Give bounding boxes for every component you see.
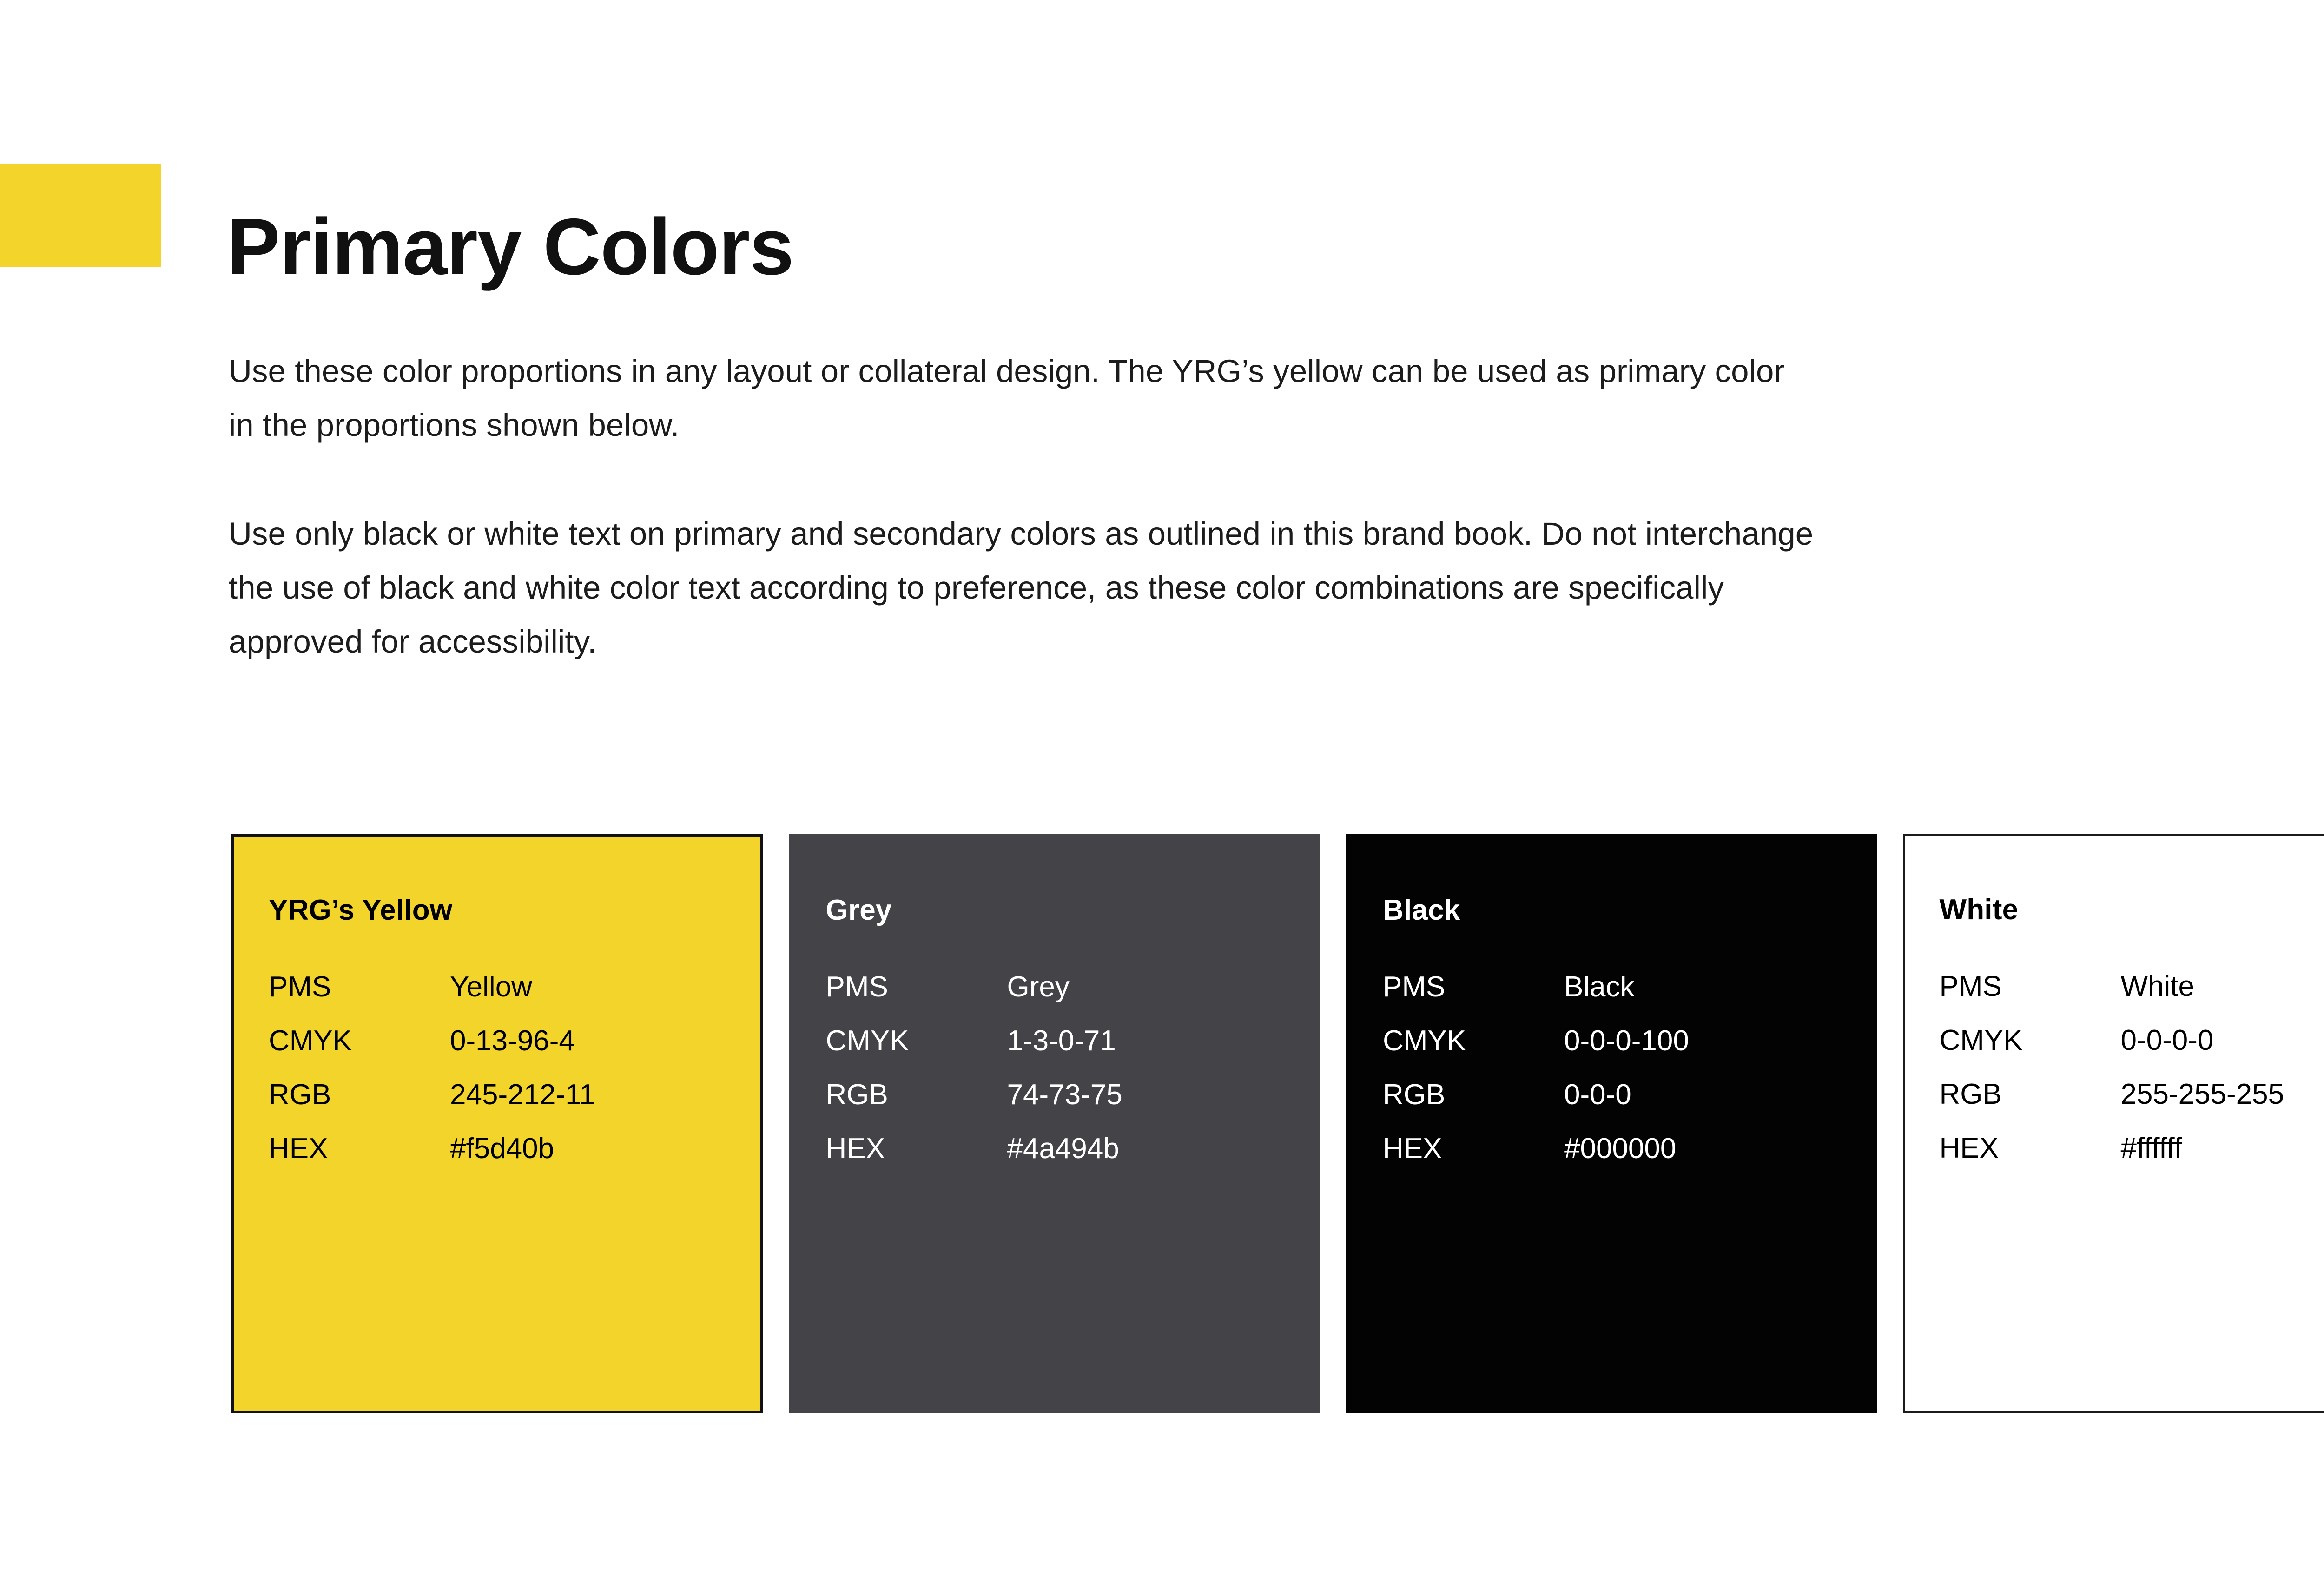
swatch-title: YRG’s Yellow [269, 896, 760, 925]
swatch-title: White [1940, 896, 2324, 924]
swatch-title: Grey [826, 896, 1318, 925]
spec-row-cmyk: CMYK 0-0-0-100 [1383, 1014, 1689, 1068]
spec-row-hex: HEX #000000 [1383, 1122, 1689, 1176]
spec-row-rgb: RGB 255-255-255 [1940, 1068, 2284, 1121]
spec-row-cmyk: CMYK 0-13-96-4 [269, 1014, 595, 1068]
spec-label-rgb: RGB [826, 1068, 1007, 1122]
color-swatch-row: YRG’s Yellow PMS Yellow CMYK 0-13-96-4 R… [231, 834, 2324, 1413]
swatch-spec-table: PMS Yellow CMYK 0-13-96-4 RGB 245-212-11… [269, 960, 595, 1176]
spec-value-hex: #ffffff [2121, 1121, 2284, 1175]
spec-label-rgb: RGB [269, 1068, 450, 1122]
spec-row-pms: PMS Grey [826, 960, 1122, 1014]
spec-label-hex: HEX [826, 1122, 1007, 1176]
spec-label-cmyk: CMYK [1940, 1014, 2121, 1068]
spec-value-rgb: 255-255-255 [2121, 1068, 2284, 1121]
spec-value-cmyk: 0-0-0-0 [2121, 1014, 2284, 1068]
spec-label-pms: PMS [269, 960, 450, 1014]
swatch-spec-table: PMS Grey CMYK 1-3-0-71 RGB 74-73-75 HEX … [826, 960, 1122, 1176]
spec-label-pms: PMS [1383, 960, 1564, 1014]
spec-label-cmyk: CMYK [1383, 1014, 1564, 1068]
color-swatch-card-black[interactable]: Black PMS Black CMYK 0-0-0-100 RGB 0-0-0… [1346, 834, 1877, 1413]
usage-paragraph: Use only black or white text on primary … [229, 507, 1818, 669]
yellow-accent-block [0, 164, 161, 267]
spec-row-rgb: RGB 245-212-11 [269, 1068, 595, 1122]
spec-value-cmyk: 0-13-96-4 [450, 1014, 595, 1068]
spec-label-pms: PMS [826, 960, 1007, 1014]
spec-label-cmyk: CMYK [269, 1014, 450, 1068]
spec-row-pms: PMS Yellow [269, 960, 595, 1014]
spec-row-hex: HEX #ffffff [1940, 1121, 2284, 1175]
page-title: Primary Colors [227, 207, 793, 287]
spec-row-rgb: RGB 74-73-75 [826, 1068, 1122, 1122]
spec-value-rgb: 245-212-11 [450, 1068, 595, 1122]
color-swatch-card-grey[interactable]: Grey PMS Grey CMYK 1-3-0-71 RGB 74-73-75… [789, 834, 1320, 1413]
spec-value-hex: #f5d40b [450, 1122, 595, 1176]
spec-value-cmyk: 0-0-0-100 [1564, 1014, 1689, 1068]
spec-value-rgb: 74-73-75 [1007, 1068, 1122, 1122]
spec-value-pms: White [2121, 960, 2284, 1014]
spec-label-cmyk: CMYK [826, 1014, 1007, 1068]
swatch-title: Black [1383, 896, 1875, 925]
spec-row-hex: HEX #f5d40b [269, 1122, 595, 1176]
spec-row-cmyk: CMYK 0-0-0-0 [1940, 1014, 2284, 1068]
spec-label-rgb: RGB [1940, 1068, 2121, 1121]
spec-row-rgb: RGB 0-0-0 [1383, 1068, 1689, 1122]
spec-value-hex: #000000 [1564, 1122, 1689, 1176]
spec-label-hex: HEX [269, 1122, 450, 1176]
spec-label-rgb: RGB [1383, 1068, 1564, 1122]
spec-row-pms: PMS Black [1383, 960, 1689, 1014]
spec-value-cmyk: 1-3-0-71 [1007, 1014, 1122, 1068]
color-swatch-card-yellow[interactable]: YRG’s Yellow PMS Yellow CMYK 0-13-96-4 R… [231, 834, 763, 1413]
intro-paragraph: Use these color proportions in any layou… [229, 344, 1818, 452]
swatch-spec-table: PMS Black CMYK 0-0-0-100 RGB 0-0-0 HEX #… [1383, 960, 1689, 1176]
spec-value-pms: Yellow [450, 960, 595, 1014]
spec-label-hex: HEX [1940, 1121, 2121, 1175]
swatch-spec-table: PMS White CMYK 0-0-0-0 RGB 255-255-255 H… [1940, 960, 2284, 1175]
spec-label-pms: PMS [1940, 960, 2121, 1014]
spec-row-hex: HEX #4a494b [826, 1122, 1122, 1176]
spec-value-rgb: 0-0-0 [1564, 1068, 1689, 1122]
spec-row-cmyk: CMYK 1-3-0-71 [826, 1014, 1122, 1068]
spec-row-pms: PMS White [1940, 960, 2284, 1014]
spec-value-pms: Grey [1007, 960, 1122, 1014]
color-swatch-card-white[interactable]: White PMS White CMYK 0-0-0-0 RGB 255-255… [1903, 834, 2324, 1413]
spec-value-hex: #4a494b [1007, 1122, 1122, 1176]
spec-value-pms: Black [1564, 960, 1689, 1014]
spec-label-hex: HEX [1383, 1122, 1564, 1176]
